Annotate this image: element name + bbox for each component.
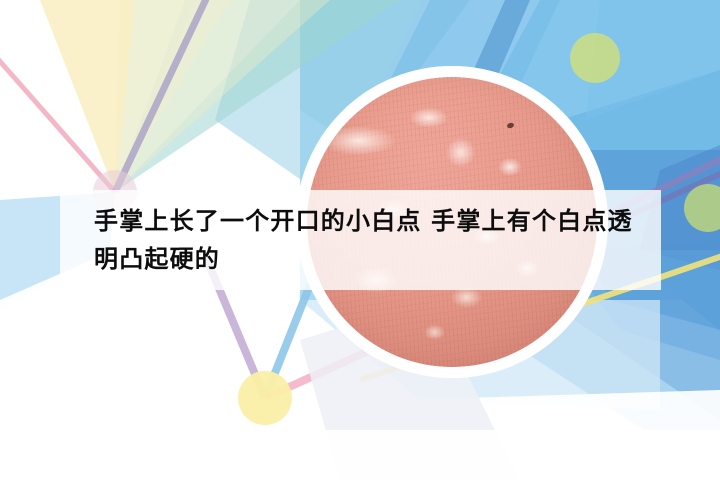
bg-circle-green-top — [570, 33, 620, 83]
bg-circle-yellow-bottom — [238, 371, 292, 425]
caption-band: 手掌上长了一个开口的小白点 手掌上有个白点透明凸起硬的 — [60, 190, 661, 290]
bg-white-footer — [0, 430, 720, 480]
caption-title: 手掌上长了一个开口的小白点 手掌上有个白点透明凸起硬的 — [60, 202, 654, 278]
cover-image-canvas: 手掌上长了一个开口的小白点 手掌上有个白点透明凸起硬的 — [0, 0, 720, 480]
